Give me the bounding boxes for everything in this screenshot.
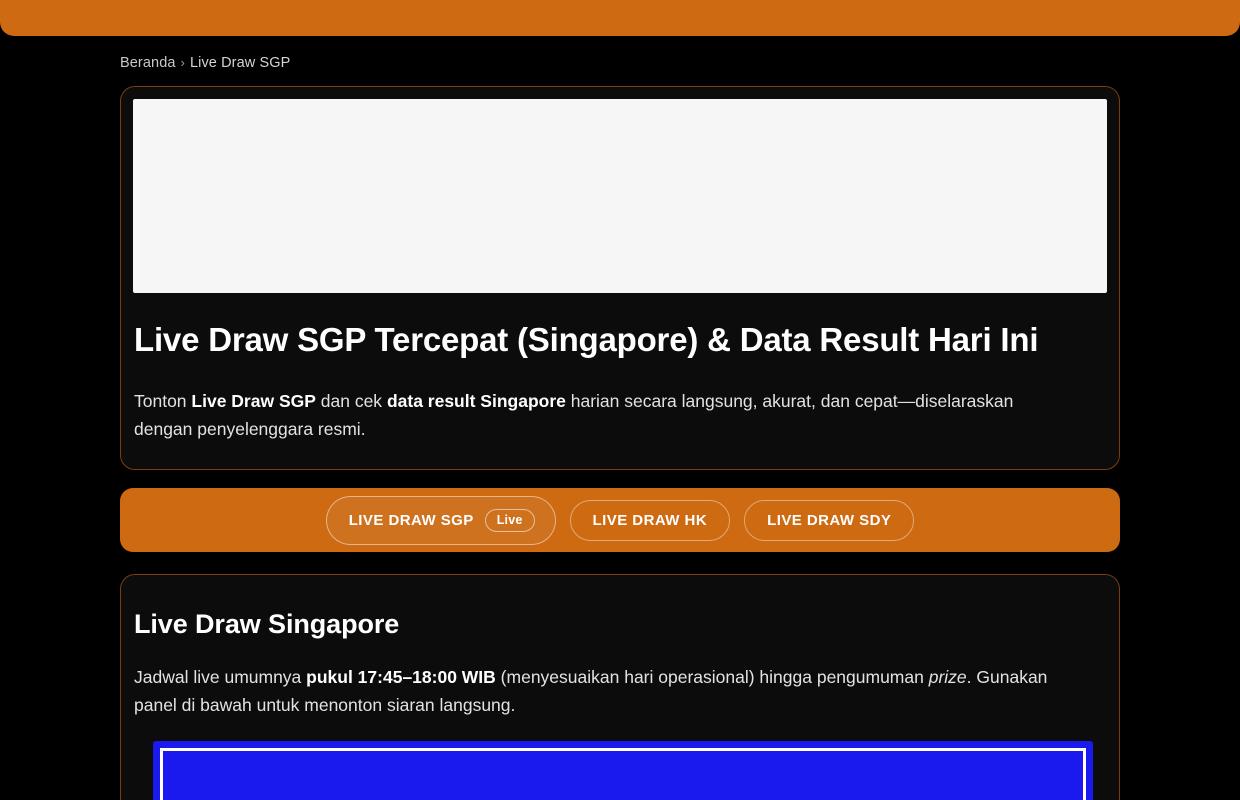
live-desc-bold-schedule: pukul 17:45–18:00 WIB — [306, 667, 496, 687]
hero-intro-paragraph: Tonton Live Draw SGP dan cek data result… — [134, 387, 1064, 443]
tab-live-draw-hk[interactable]: LIVE DRAW HK — [570, 500, 731, 541]
hero-image-placeholder — [133, 99, 1107, 293]
breadcrumb-current: Live Draw SGP — [190, 55, 290, 71]
breadcrumb: Beranda›Live Draw SGP — [120, 36, 1120, 86]
live-desc-text-2: (menyesuaikan hari operasional) hingga p… — [496, 667, 929, 687]
live-stream-frame[interactable] — [153, 741, 1093, 800]
hero-card: Live Draw SGP Tercepat (Singapore) & Dat… — [120, 86, 1120, 470]
hero-intro-text-2: dan cek — [316, 391, 387, 411]
live-draw-tabbar: LIVE DRAW SGP Live LIVE DRAW HK LIVE DRA… — [120, 488, 1120, 552]
tab-live-draw-sgp[interactable]: LIVE DRAW SGP Live — [326, 496, 556, 545]
tab-live-draw-sdy[interactable]: LIVE DRAW SDY — [744, 500, 914, 541]
tab-live-draw-hk-label: LIVE DRAW HK — [593, 512, 708, 529]
site-header-bar — [0, 0, 1240, 36]
live-desc-italic-prize: prize — [929, 667, 967, 687]
hero-intro-text-1: Tonton — [134, 391, 191, 411]
page-container: Beranda›Live Draw SGP Live Draw SGP Terc… — [0, 36, 1240, 800]
hero-intro-bold-1: Live Draw SGP — [191, 391, 316, 411]
live-section-title: Live Draw Singapore — [134, 607, 1107, 641]
tab-live-draw-sgp-label: LIVE DRAW SGP — [349, 512, 474, 529]
breadcrumb-home-link[interactable]: Beranda — [120, 55, 176, 71]
hero-intro-bold-2: data result Singapore — [387, 391, 566, 411]
tab-live-draw-sdy-label: LIVE DRAW SDY — [767, 512, 891, 529]
live-desc-text-1: Jadwal live umumnya — [134, 667, 306, 687]
breadcrumb-separator-icon: › — [181, 55, 185, 70]
live-draw-singapore-card: Live Draw Singapore Jadwal live umumnya … — [120, 574, 1120, 800]
page-title: Live Draw SGP Tercepat (Singapore) & Dat… — [134, 315, 1064, 365]
live-stream-embed[interactable] — [160, 748, 1086, 800]
live-section-description: Jadwal live umumnya pukul 17:45–18:00 WI… — [134, 663, 1084, 719]
tab-live-badge: Live — [485, 509, 535, 532]
